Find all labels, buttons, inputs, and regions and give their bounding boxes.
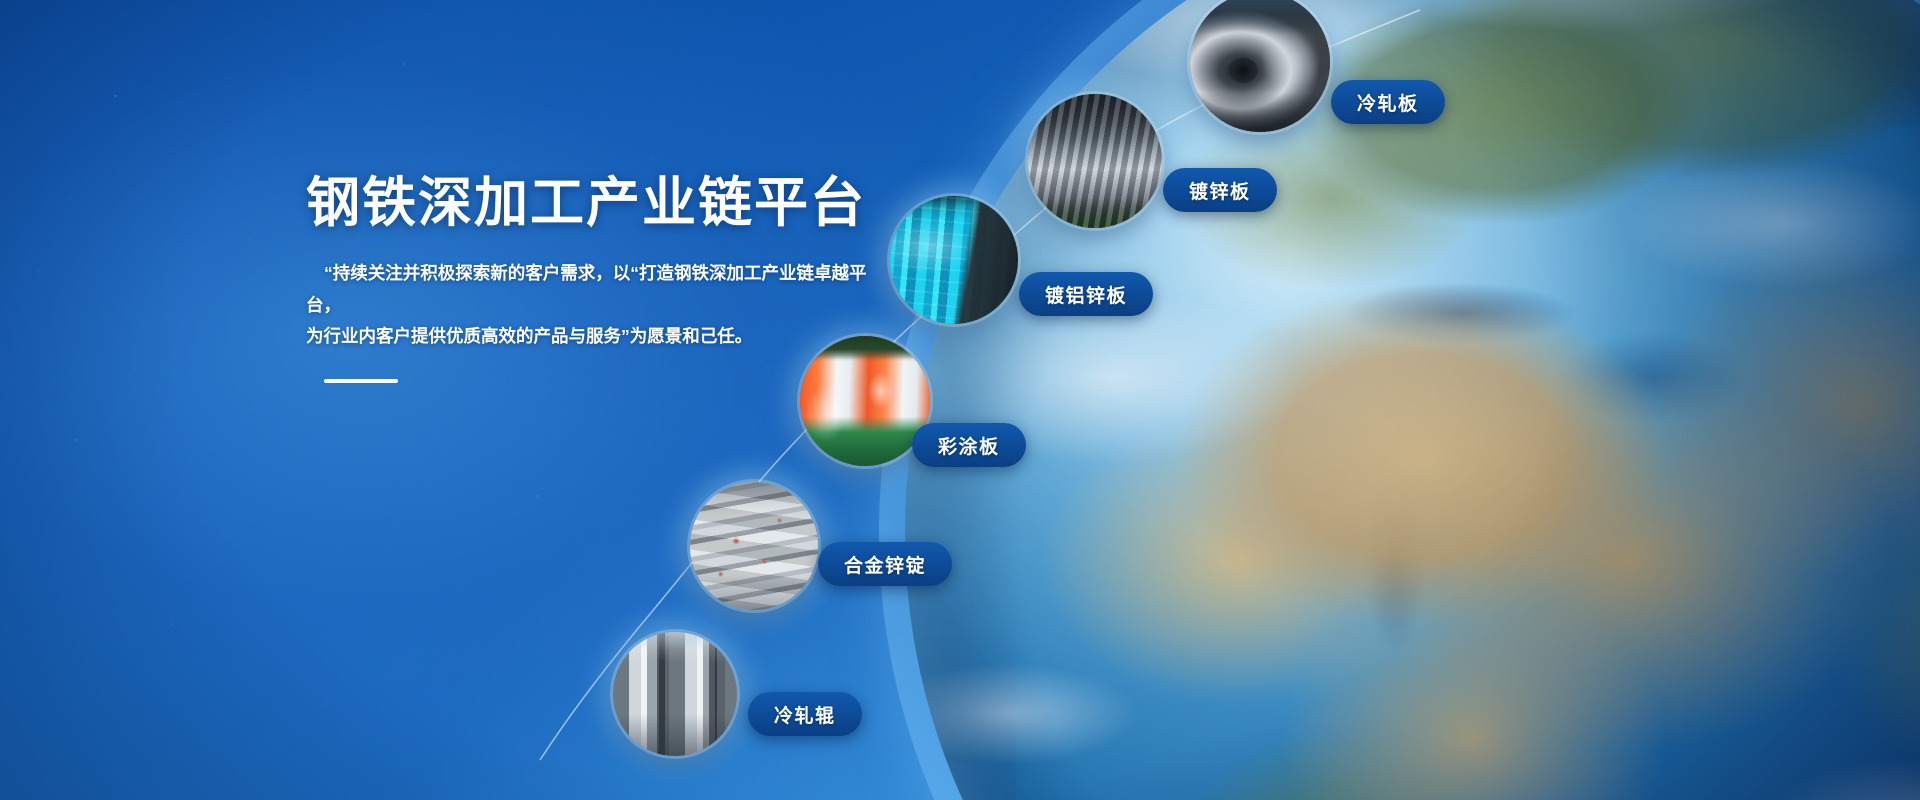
page-title: 钢铁深加工产业链平台 [306,172,886,236]
curved-connector-line [0,0,1920,800]
cyan-aluzinc-sheet-photo[interactable] [890,196,1018,324]
hero-copy: 钢铁深加工产业链平台 “持续关注并积极探索新的客户需求，以“打造钢铁深加工产业链… [306,172,886,383]
product-label-cold-rolling-roll[interactable]: 冷轧辊 [748,692,862,736]
hero-banner: 钢铁深加工产业链平台 “持续关注并积极探索新的客户需求，以“打造钢铁深加工产业链… [0,0,1920,800]
product-label-aluzinc-plate[interactable]: 镀铝锌板 [1019,272,1153,316]
cold-rolling-roll-photo[interactable] [613,632,737,756]
hero-subtitle: “持续关注并积极探索新的客户需求，以“打造钢铁深加工产业链卓越平台， 为行业内客… [306,258,886,354]
warehouse-coils-photo[interactable] [1028,94,1162,228]
zinc-ingot-photo[interactable] [690,482,818,610]
subtitle-line-1: “持续关注并积极探索新的客户需求，以“打造钢铁深加工产业链卓越平台， [306,258,886,322]
white-rule-divider [324,379,398,383]
product-label-color-coated-plate[interactable]: 彩涂板 [912,423,1026,467]
vignette-overlay [0,0,1920,800]
starfield-decoration [0,0,1920,800]
product-label-zinc-alloy-ingot[interactable]: 合金锌锭 [818,542,952,586]
subtitle-line-2: 为行业内客户提供优质高效的产品与服务”为愿景和己任。 [306,321,886,353]
product-label-cold-rolled-plate[interactable]: 冷轧板 [1331,80,1445,124]
product-label-galvanized-plate[interactable]: 镀锌板 [1163,168,1277,212]
steel-coil-photo[interactable] [1190,0,1330,132]
